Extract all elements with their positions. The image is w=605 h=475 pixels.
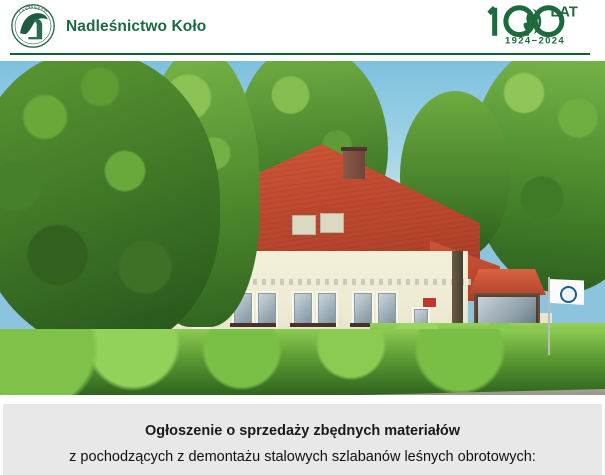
- photo-flower-box: [230, 323, 276, 327]
- photo-chimney: [343, 149, 365, 179]
- photo-window: [292, 291, 314, 327]
- photo-wall-sign: [423, 298, 436, 307]
- anniversary-100-lat-logo: LAT 1924−2024: [479, 2, 591, 46]
- photo-window: [376, 291, 398, 327]
- announcement-subtitle: z pochodzących z demontażu stalowych szl…: [3, 449, 602, 465]
- photo-dormer-2: [320, 213, 344, 233]
- photo-flagpole: [548, 277, 550, 355]
- site-header: L A S Y P A Ń S T W Nadleśnictwo Koło: [0, 0, 605, 54]
- photo-flower-box: [290, 323, 336, 327]
- photo-chimney-cap: [341, 147, 367, 151]
- photo-window: [352, 291, 374, 327]
- photo-porch-roof: [468, 269, 546, 295]
- svg-text:P A Ń S T W: P A Ń S T W: [27, 3, 49, 13]
- anniversary-years: 1924−2024: [505, 36, 565, 46]
- site-title: Nadleśnictwo Koło: [66, 18, 206, 36]
- brand-block[interactable]: L A S Y P A Ń S T W Nadleśnictwo Koło: [10, 3, 206, 49]
- photo-tree-left: [0, 61, 220, 351]
- announcement-panel: Ogłoszenie o sprzedaży zbędnych materiał…: [3, 404, 602, 475]
- photo-window: [256, 291, 278, 327]
- photo-dormer-1: [292, 215, 316, 235]
- page-root: L A S Y P A Ń S T W Nadleśnictwo Koło: [0, 0, 605, 475]
- photo-hedge: [0, 329, 605, 395]
- hero-photo: [0, 61, 605, 395]
- photo-window: [316, 291, 338, 327]
- header-divider: [10, 53, 590, 55]
- photo-flag-emblem: [560, 286, 577, 303]
- lasy-panstwowe-logo-icon: L A S Y P A Ń S T W: [10, 3, 56, 49]
- announcement-title: Ogłoszenie o sprzedaży zbędnych materiał…: [3, 423, 602, 439]
- anniversary-lat-label: LAT: [551, 5, 578, 21]
